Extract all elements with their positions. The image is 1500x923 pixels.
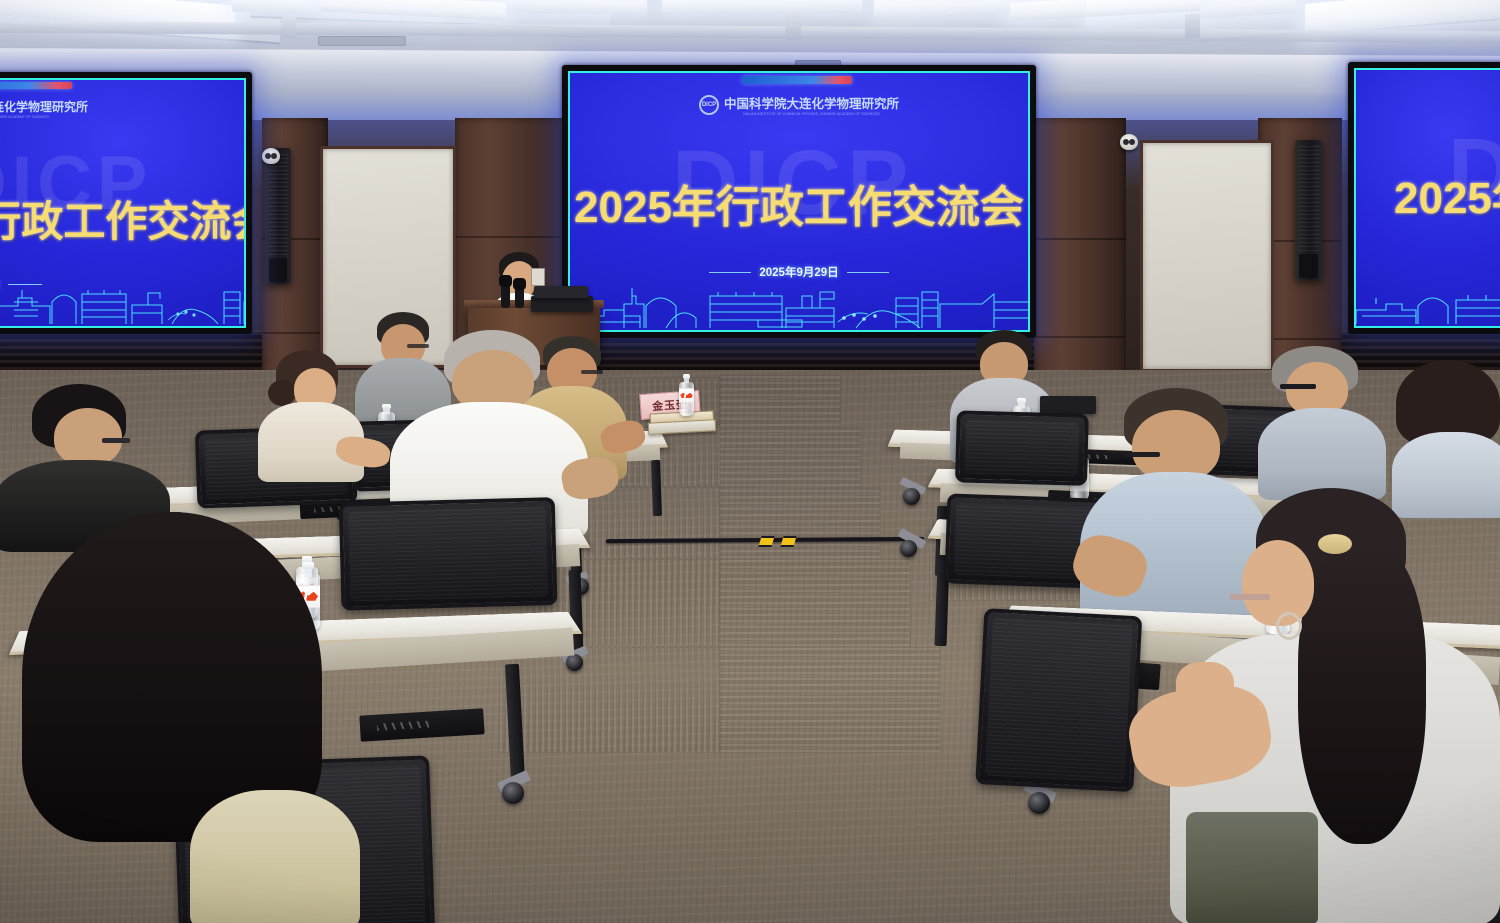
institute-logo-icon: DICP	[699, 95, 719, 115]
ceiling-light-panel	[662, 0, 862, 14]
tote-bag	[1186, 812, 1318, 923]
water-bottle	[679, 374, 694, 416]
ceiling-air-vent	[318, 36, 406, 46]
institute-name-cn: 中国科学院大连化学物理研究所	[0, 98, 88, 115]
display-right[interactable]: DICP 2025年行政工作交流会	[1348, 62, 1500, 334]
slide-title-left: 2025年行政工作交流会	[0, 188, 244, 249]
dome-camera-right	[1120, 134, 1138, 150]
hoop-earring	[1276, 612, 1302, 640]
slide-title-center: 2025年行政工作交流会	[570, 171, 1028, 235]
institute-name-cn: 中国科学院大连化学物理研究所	[724, 93, 899, 112]
campus-skyline-graphic	[570, 272, 1028, 330]
table-caster	[502, 782, 524, 804]
table-caster	[903, 488, 920, 505]
chair[interactable]	[955, 410, 1081, 477]
eyeglasses	[1124, 452, 1160, 457]
laptop-screen	[534, 286, 588, 298]
table-caster	[900, 540, 917, 557]
audience-hair-bun	[268, 380, 296, 406]
projection-toolbar[interactable]	[742, 76, 852, 84]
display-left[interactable]: DICP DICP 中国科学院大连化学物理研究所 DALIAN INSTITUT…	[0, 72, 252, 334]
wall-speaker-left	[265, 148, 291, 284]
eyeglasses	[102, 438, 130, 443]
audience-member	[10, 512, 340, 923]
wall-speaker-right	[1295, 140, 1322, 280]
audience-head	[1242, 540, 1314, 626]
audience-ponytail	[1298, 544, 1426, 844]
audience-head	[54, 408, 122, 466]
eyeglasses	[1230, 594, 1270, 600]
institute-name-en: DALIAN INSTITUTE OF CHEMICAL PHYSICS, CH…	[0, 115, 88, 119]
chair[interactable]	[339, 497, 550, 602]
wall-panel-right	[1140, 140, 1274, 372]
microphone	[501, 282, 510, 308]
conference-room-photo: DICP DICP 中国科学院大连化学物理研究所 DALIAN INSTITUT…	[0, 0, 1500, 923]
table-caster	[566, 654, 583, 671]
wall-control-plate[interactable]	[531, 268, 545, 286]
campus-skyline-graphic	[0, 272, 244, 326]
institute-name-en: DALIAN INSTITUTE OF CHEMICAL PHYSICS, CH…	[724, 112, 899, 116]
chair[interactable]	[976, 608, 1135, 784]
audience-hand	[1176, 662, 1234, 714]
hair-tie	[1318, 534, 1352, 554]
dome-camera-left	[262, 148, 280, 164]
slide-center: DICP DICP 中国科学院大连化学物理研究所 DALIAN INSTITUT…	[570, 73, 1028, 330]
slide-title-right: 2025年行政工作交流会	[1394, 162, 1500, 226]
slide-left: DICP DICP 中国科学院大连化学物理研究所 DALIAN INSTITUT…	[0, 80, 244, 326]
audience-torso	[190, 790, 360, 923]
slide-right: DICP 2025年行政工作交流会	[1356, 70, 1500, 326]
display-center[interactable]: DICP DICP 中国科学院大连化学物理研究所 DALIAN INSTITUT…	[562, 65, 1036, 338]
projection-toolbar[interactable]	[0, 82, 72, 89]
campus-skyline-graphic	[1356, 274, 1500, 326]
microphone	[515, 285, 524, 308]
audience-member	[258, 350, 364, 480]
table-caster	[1028, 792, 1050, 814]
laptop[interactable]	[531, 296, 593, 312]
audience-member	[1248, 372, 1380, 500]
